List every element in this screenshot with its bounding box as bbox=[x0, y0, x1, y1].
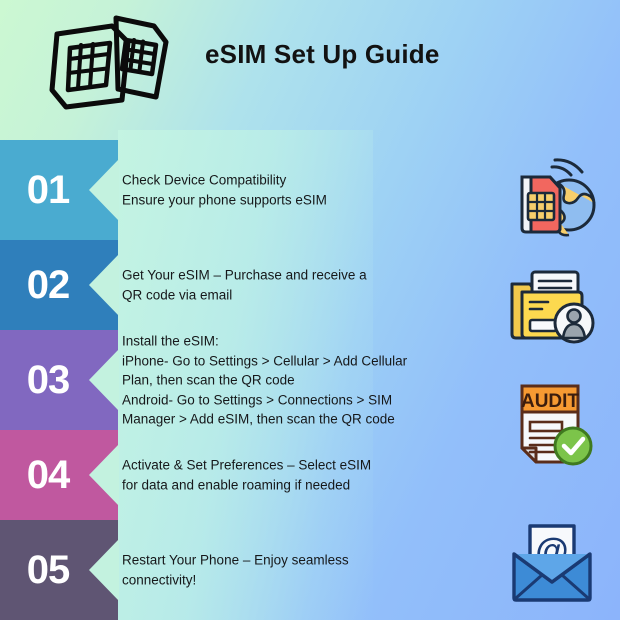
step-text-line: Manager > Add eSIM, then scan the QR cod… bbox=[122, 409, 462, 429]
step-description: Restart Your Phone – Enjoy seamless conn… bbox=[122, 551, 452, 590]
poster-header: eSIM Set Up Guide bbox=[0, 0, 620, 130]
sim-card-globe-icon bbox=[506, 155, 598, 248]
step-text-line: Activate & Set Preferences – Select eSIM bbox=[122, 456, 452, 476]
infographic-poster: eSIM Set Up Guide 01 Check Device Compat… bbox=[0, 0, 620, 620]
folder-document-user-icon bbox=[506, 262, 598, 349]
step-number-label: 02 bbox=[0, 265, 96, 305]
step-text-line: iPhone- Go to Settings > Cellular > Add … bbox=[122, 351, 462, 371]
page-title: eSIM Set Up Guide bbox=[205, 39, 440, 70]
step-description: Install the eSIM: iPhone- Go to Settings… bbox=[122, 331, 462, 429]
step-text-line: Install the eSIM: bbox=[122, 331, 462, 351]
email-envelope-at-icon: @ bbox=[506, 520, 598, 609]
step-number-label: 04 bbox=[0, 455, 96, 495]
step-text-line: for data and enable roaming if needed bbox=[122, 475, 452, 495]
step-text-line: Get Your eSIM – Purchase and receive a bbox=[122, 266, 452, 286]
step-description: Get Your eSIM – Purchase and receive a Q… bbox=[122, 266, 452, 305]
step-text-line: QR code via email bbox=[122, 285, 452, 305]
step-text-line: Ensure your phone supports eSIM bbox=[122, 190, 452, 210]
dual-sim-cards-icon bbox=[44, 12, 169, 117]
step-description: Check Device Compatibility Ensure your p… bbox=[122, 171, 452, 210]
step-text-line: Android- Go to Settings > Connections > … bbox=[122, 390, 462, 410]
step-description: Activate & Set Preferences – Select eSIM… bbox=[122, 456, 452, 495]
step-text-line: Plan, then scan the QR code bbox=[122, 370, 462, 390]
step-number-label: 01 bbox=[0, 170, 96, 210]
step-number-label: 03 bbox=[0, 360, 96, 400]
audit-document-check-icon: AUDIT bbox=[506, 378, 598, 475]
step-number-label: 05 bbox=[0, 550, 96, 590]
step-text-line: connectivity! bbox=[122, 570, 452, 590]
step-text-line: Check Device Compatibility bbox=[122, 171, 452, 191]
audit-label: AUDIT bbox=[521, 391, 579, 412]
step-text-line: Restart Your Phone – Enjoy seamless bbox=[122, 551, 452, 571]
